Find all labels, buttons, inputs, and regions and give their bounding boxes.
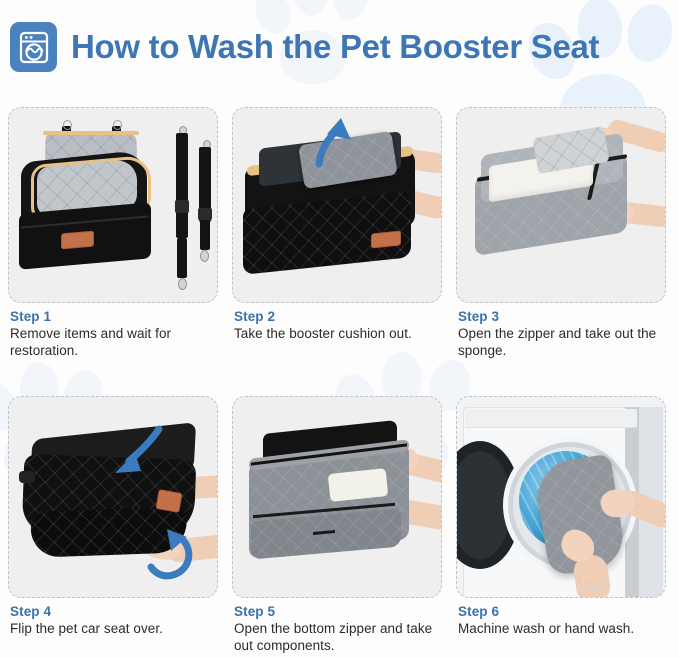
step-label-6: Step 6 [458, 604, 670, 620]
step-card-6: Step 6 Machine wash or hand wash. [456, 396, 668, 646]
step-image-4 [8, 396, 218, 598]
brand-tag [155, 489, 182, 513]
step-card-3: Step 3 Open the zipper and take out the … [456, 107, 668, 377]
step-text-4: Flip the pet car seat over. [10, 621, 218, 638]
step-image-2 [232, 107, 442, 303]
side-buckle [19, 471, 35, 483]
step-image-5 [232, 396, 442, 598]
step-text-1: Remove items and wait for restoration. [10, 326, 218, 359]
brand-tag [61, 231, 94, 250]
page-title: How to Wash the Pet Booster Seat [71, 22, 599, 72]
step-card-1: Step 1 Remove items and wait for restora… [8, 107, 220, 377]
step-text-6: Machine wash or hand wash. [458, 621, 670, 638]
step-text-3: Open the zipper and take out the sponge. [458, 326, 670, 359]
header: How to Wash the Pet Booster Seat [0, 0, 679, 96]
step-label-2: Step 2 [234, 309, 442, 325]
step-caption-2: Step 2 Take the booster cushion out. [234, 309, 442, 343]
step-label-3: Step 3 [458, 309, 670, 325]
step-caption-5: Step 5 Open the bottom zipper and take o… [234, 604, 446, 654]
step-caption-3: Step 3 Open the zipper and take out the … [458, 309, 670, 359]
step-card-2: Step 2 Take the booster cushion out. [232, 107, 444, 377]
step-label-4: Step 4 [10, 604, 218, 620]
seat-lower-edge [30, 506, 188, 557]
infographic-root: How to Wash the Pet Booster Seat [0, 0, 679, 658]
step-caption-1: Step 1 Remove items and wait for restora… [10, 309, 218, 359]
step-card-5: Step 5 Open the bottom zipper and take o… [232, 396, 444, 646]
step-image-3 [456, 107, 666, 303]
step-card-4: Step 4 Flip the pet car seat over. [8, 396, 220, 646]
step-label-1: Step 1 [10, 309, 218, 325]
step-text-5: Open the bottom zipper and take out comp… [234, 621, 446, 654]
step-caption-4: Step 4 Flip the pet car seat over. [10, 604, 218, 638]
step-text-2: Take the booster cushion out. [234, 326, 442, 343]
step-label-5: Step 5 [234, 604, 446, 620]
step-caption-6: Step 6 Machine wash or hand wash. [458, 604, 670, 638]
steps-grid: Step 1 Remove items and wait for restora… [0, 96, 679, 658]
washing-machine-icon [10, 22, 57, 72]
brand-tag [371, 230, 401, 248]
step-image-1 [8, 107, 218, 303]
step-image-6 [456, 396, 666, 598]
